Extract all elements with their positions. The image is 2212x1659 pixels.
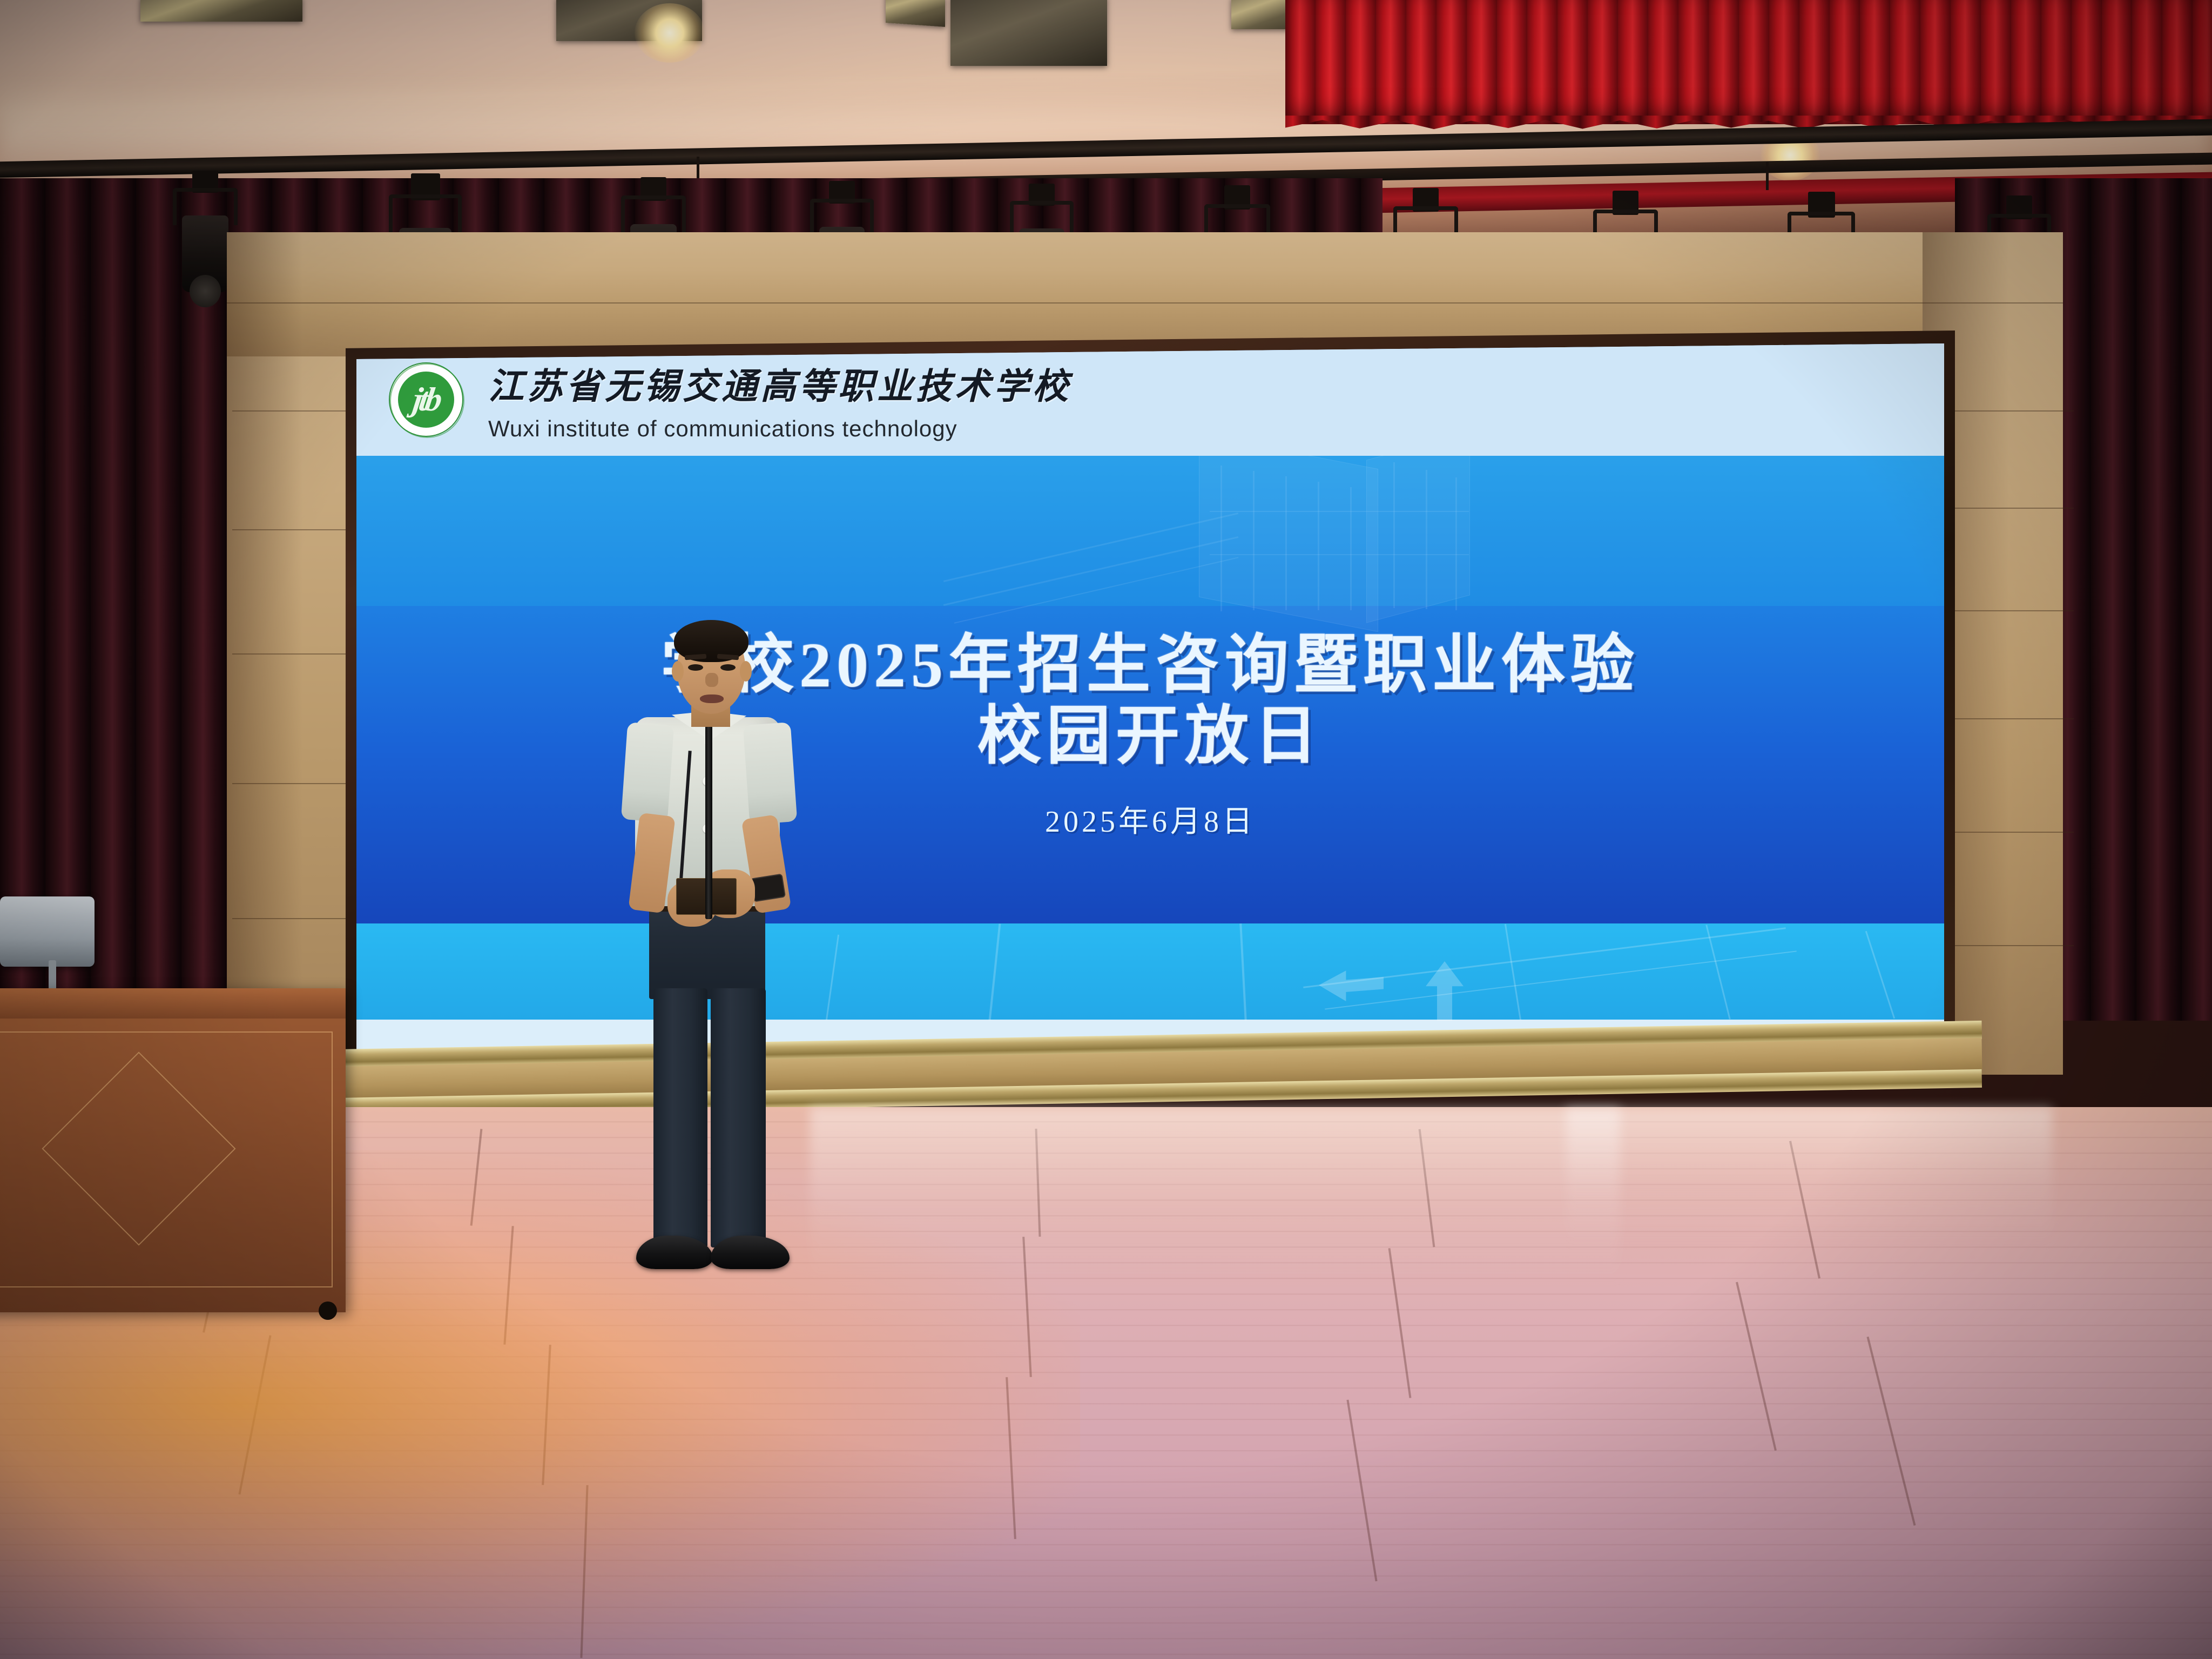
floor-seam <box>1867 1337 1916 1526</box>
screen-band-mid-blue <box>356 606 1944 925</box>
presenter <box>616 616 832 1318</box>
red-stage-valance <box>1285 0 2212 124</box>
road-arrow-up <box>1426 961 1464 1021</box>
light-lens <box>190 275 221 307</box>
sleeve-right <box>743 722 798 825</box>
institute-name-cn: 江苏省无锡交通高等职业技术学校 <box>488 358 1071 409</box>
road-edge <box>1505 924 1521 1020</box>
campus-building-blueprint <box>940 446 1469 613</box>
wooden-lectern[interactable] <box>0 988 346 1312</box>
building-face <box>1366 432 1470 623</box>
chair-leg <box>49 960 56 993</box>
building-window <box>1253 471 1255 610</box>
screen-header: jtb 江苏省无锡交通高等职业技术学校 Wuxi institute of co… <box>356 343 1944 456</box>
emblem-ring <box>390 363 464 438</box>
stage-photo-scene: jtb 江苏省无锡交通高等职业技术学校 Wuxi institute of co… <box>0 0 2212 1659</box>
wuxi-institute-emblem-icon: jtb <box>389 362 463 437</box>
road-marking <box>1865 931 1895 1019</box>
ear-left <box>672 661 684 682</box>
ceiling-vent-panel <box>886 0 945 27</box>
lectern-caster-wheel <box>319 1301 337 1320</box>
eye-left <box>688 664 703 671</box>
wall-shadow <box>227 232 302 1075</box>
wrist-watch <box>750 874 786 902</box>
trouser-leg-right <box>711 988 766 1247</box>
mouth <box>700 694 724 703</box>
screen-header-text: 江苏省无锡交通高等职业技术学校 Wuxi institute of commun… <box>488 358 1071 442</box>
road-edge <box>1705 925 1730 1019</box>
building-window <box>1455 477 1457 610</box>
building-window <box>1426 470 1427 609</box>
building-floor-line <box>1210 554 1469 555</box>
ear-right <box>740 661 752 682</box>
building-window <box>1393 462 1395 608</box>
floor-seam <box>1736 1282 1777 1451</box>
ceiling-vent-panel <box>140 0 302 22</box>
building-floor-line <box>1210 511 1469 512</box>
led-display[interactable]: jtb 江苏省无锡交通高等职业技术学校 Wuxi institute of co… <box>356 343 1944 1056</box>
road-edge <box>989 923 1001 1020</box>
sleeve-left <box>621 722 674 822</box>
shoe-right <box>711 1236 790 1269</box>
road-arrow-left <box>1319 966 1384 1001</box>
campus-road-blueprint <box>356 923 1944 1021</box>
building-window <box>1285 476 1287 610</box>
institute-name-en: Wuxi institute of communications technol… <box>488 416 1071 442</box>
building-window <box>1220 466 1222 611</box>
stage-chair[interactable] <box>0 896 95 967</box>
ceiling-spotlight <box>635 3 705 63</box>
floor-reflection <box>1566 1107 2052 1247</box>
floor-seam <box>1346 1400 1377 1581</box>
lectern-top <box>0 988 346 1019</box>
eye-right <box>720 664 736 671</box>
microphone-body[interactable] <box>705 698 712 919</box>
ceiling-vent-panel <box>950 0 1107 66</box>
nose <box>705 673 718 687</box>
building-window <box>1318 482 1319 610</box>
wall-seam <box>227 302 2063 304</box>
building-window <box>1350 487 1352 610</box>
road-edge <box>1239 923 1246 1021</box>
trouser-leg-left <box>653 988 707 1247</box>
truss-cable <box>1766 162 1769 190</box>
